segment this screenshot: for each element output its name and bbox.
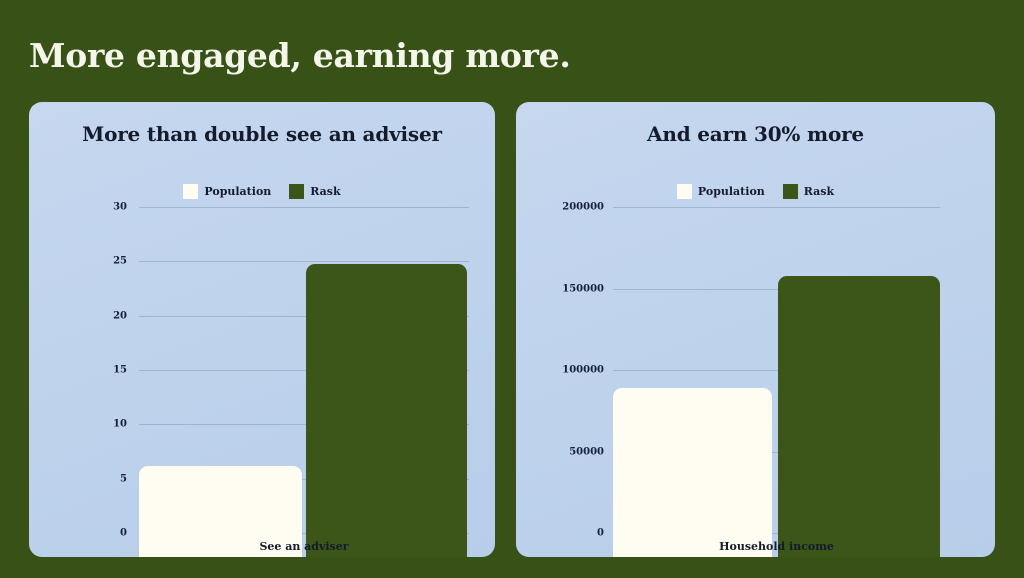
- ytick-label-30: 30: [89, 202, 127, 213]
- ytick-label-20: 20: [89, 310, 127, 321]
- bar-rask-see-an-adviser[interactable]: [306, 264, 467, 557]
- plot-area-left: 30 25 20 15 10 5 0 See an adviser: [29, 102, 495, 557]
- page-title: More engaged, earning more.: [29, 38, 571, 74]
- bar-population-household-income[interactable]: [613, 388, 772, 557]
- charts-container: More than double see an adviser Populati…: [0, 102, 1024, 560]
- chart-card-household-income: And earn 30% more Population Rask 200000…: [516, 102, 995, 557]
- ytick-label-10: 10: [89, 419, 127, 430]
- ytick-label-100000: 100000: [536, 365, 604, 376]
- xaxis-label-right: Household income: [613, 540, 940, 553]
- chart-card-see-an-adviser: More than double see an adviser Populati…: [29, 102, 495, 557]
- plot-area-right: 200000 150000 100000 50000 0 Household i…: [516, 102, 995, 557]
- ytick-label-5: 5: [89, 473, 127, 484]
- xaxis-label-left: See an adviser: [139, 540, 469, 553]
- ytick-label-0: 0: [89, 528, 127, 539]
- ytick-label-25: 25: [89, 256, 127, 267]
- bars-wrapper-left: [139, 207, 469, 557]
- ytick-label-0: 0: [536, 528, 604, 539]
- ytick-label-15: 15: [89, 365, 127, 376]
- bar-rask-household-income[interactable]: [778, 276, 940, 557]
- ytick-label-150000: 150000: [536, 283, 604, 294]
- ytick-label-50000: 50000: [536, 446, 604, 457]
- ytick-label-200000: 200000: [536, 202, 604, 213]
- bars-wrapper-right: [613, 207, 940, 557]
